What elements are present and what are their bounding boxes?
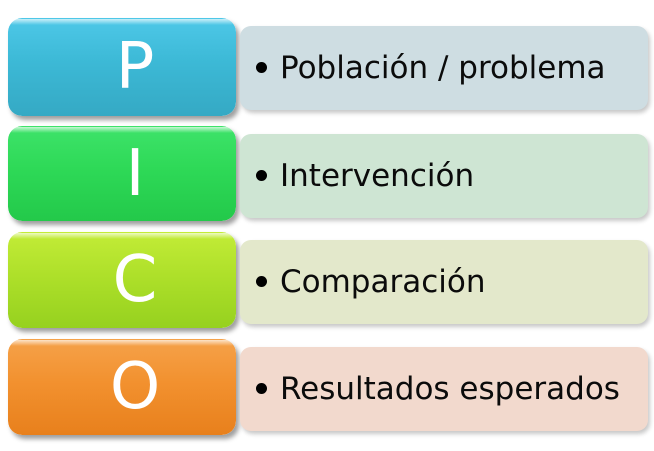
panel-label-p: Población / problema bbox=[280, 50, 606, 86]
panel-text-o: Resultados esperados bbox=[240, 374, 620, 405]
chip-letter-i: I bbox=[8, 126, 236, 221]
bullet-icon bbox=[256, 62, 267, 73]
panel-text-i: Intervención bbox=[240, 161, 474, 192]
label-panel-p[interactable]: Población / problema bbox=[240, 26, 648, 110]
panel-label-o: Resultados esperados bbox=[280, 371, 620, 407]
bullet-icon bbox=[256, 276, 267, 287]
panel-label-i: Intervención bbox=[280, 158, 474, 194]
chip-letter-p: P bbox=[8, 18, 236, 116]
letter-chip-o[interactable]: O bbox=[8, 339, 236, 435]
label-panel-c[interactable]: Comparación bbox=[240, 240, 648, 324]
chip-letter-c: C bbox=[8, 232, 236, 328]
panel-text-p: Población / problema bbox=[240, 53, 606, 84]
pico-diagram: P Población / problema I Intervención C … bbox=[0, 0, 654, 451]
panel-label-c: Comparación bbox=[280, 264, 486, 300]
bullet-icon bbox=[256, 170, 267, 181]
label-panel-i[interactable]: Intervención bbox=[240, 134, 648, 218]
label-panel-o[interactable]: Resultados esperados bbox=[240, 347, 648, 431]
letter-chip-i[interactable]: I bbox=[8, 126, 236, 221]
chip-letter-o: O bbox=[8, 339, 236, 435]
bullet-icon bbox=[256, 383, 267, 394]
panel-text-c: Comparación bbox=[240, 267, 486, 298]
letter-chip-p[interactable]: P bbox=[8, 18, 236, 116]
letter-chip-c[interactable]: C bbox=[8, 232, 236, 328]
